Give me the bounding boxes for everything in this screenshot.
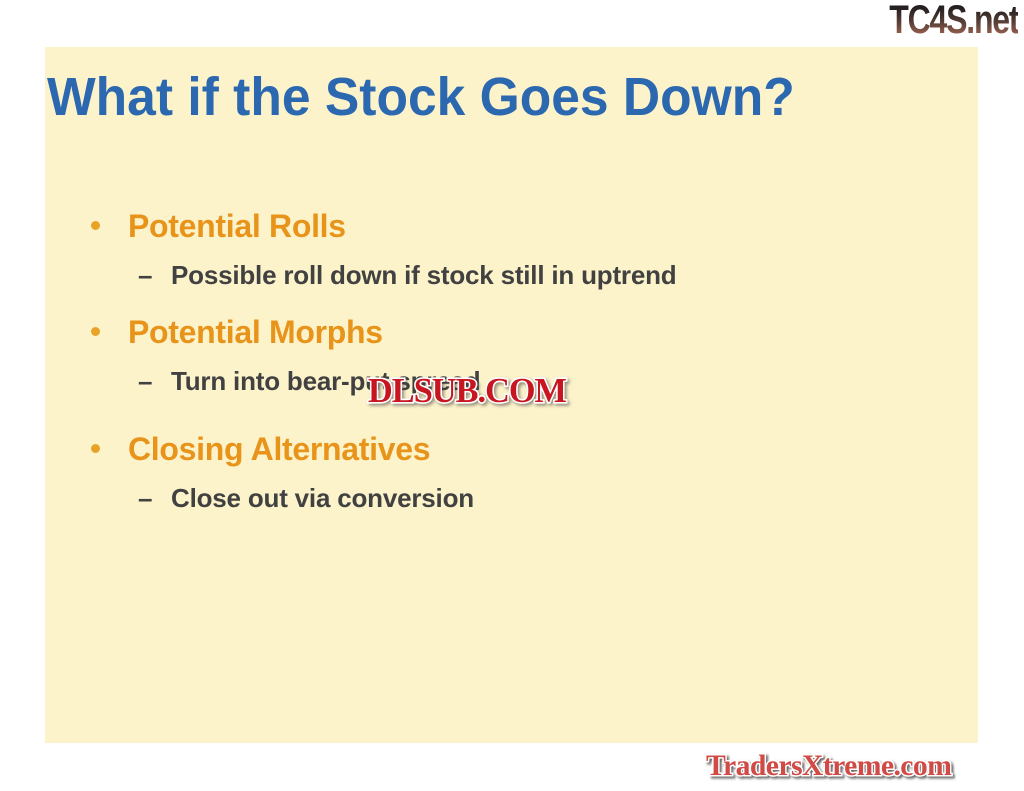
bullet-label: Potential Rolls bbox=[128, 204, 346, 248]
bullet-dot-icon bbox=[91, 221, 100, 230]
list-item: Potential Rolls bbox=[45, 204, 925, 256]
sub-bullet-label: Possible roll down if stock still in upt… bbox=[171, 256, 676, 294]
sub-bullet-label: Close out via conversion bbox=[171, 479, 474, 517]
tc4s-site-logo: TC4S.net bbox=[889, 0, 1018, 42]
bullet-group-closing-alternatives: Closing Alternatives – Close out via con… bbox=[45, 427, 925, 524]
bullet-list: Potential Rolls – Possible roll down if … bbox=[45, 204, 925, 524]
dash-marker-icon: – bbox=[138, 256, 152, 294]
sub-list-item: – Close out via conversion bbox=[45, 479, 925, 524]
bullet-dot-icon bbox=[91, 444, 100, 453]
bullet-label: Closing Alternatives bbox=[128, 427, 430, 471]
bullet-group-potential-rolls: Potential Rolls – Possible roll down if … bbox=[45, 204, 925, 301]
sub-list-item: – Possible roll down if stock still in u… bbox=[45, 256, 925, 301]
dash-marker-icon: – bbox=[138, 362, 152, 400]
dlsub-overlay-watermark: DLSUB.COM bbox=[368, 371, 566, 411]
bullet-label: Potential Morphs bbox=[128, 310, 383, 354]
dash-marker-icon: – bbox=[138, 479, 152, 517]
tradersxtreme-footer-watermark: TradersXtreme.com bbox=[706, 748, 951, 784]
list-item: Potential Morphs bbox=[45, 310, 925, 362]
page-title: What if the Stock Goes Down? bbox=[47, 66, 868, 128]
presentation-slide: TC4S.net What if the Stock Goes Down? Po… bbox=[0, 0, 1024, 791]
list-item: Closing Alternatives bbox=[45, 427, 925, 479]
group-spacer bbox=[45, 301, 925, 310]
bullet-dot-icon bbox=[91, 327, 100, 336]
